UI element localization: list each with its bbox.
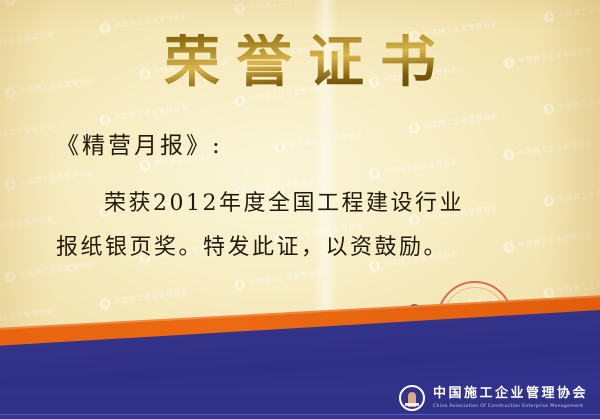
footer-hairline: [0, 414, 600, 415]
association-badge-icon: [543, 102, 555, 114]
association-badge-icon: [233, 94, 245, 106]
association-name-block: 中国施工企业管理协会 China Association Of Construc…: [433, 386, 588, 410]
watermark-row: 中国施工企业管理协会中国施工企业管理协会中国施工企业管理协会中国施工企业管理协会…: [0, 0, 600, 28]
association-badge-icon: [233, 2, 245, 14]
association-name-cn: 中国施工企业管理协会: [433, 386, 588, 402]
watermark-label: 中国施工企业管理协会: [0, 122, 54, 142]
watermark-label: 中国施工企业管理协会: [558, 184, 600, 204]
watermark-item: 中国施工企业管理协会: [0, 119, 55, 147]
watermark-label: 中国施工企业管理协会: [558, 0, 600, 20]
watermark-item: 中国施工企业管理协会: [0, 211, 55, 239]
watermark-label: 中国施工企业管理协会: [19, 0, 95, 4]
watermark-label: 中国施工企业管理协会: [248, 0, 324, 12]
association-badge-icon: [233, 278, 245, 290]
association-badge-icon: [543, 10, 555, 22]
watermark-item: 中国施工企业管理协会: [98, 100, 189, 128]
watermark-item: 中国施工企业管理协会: [233, 0, 324, 17]
association-badge-icon: [99, 21, 111, 33]
watermark-item: 中国施工企业管理协会: [542, 89, 600, 117]
association-badge-icon: [4, 0, 16, 7]
award-text-line-2: 报纸银页奖。特发此证，以资鼓励。: [56, 226, 558, 270]
watermark-item: 中国施工企业管理协会: [98, 284, 189, 312]
watermark-label: 中国施工企业管理协会: [114, 287, 190, 307]
award-text-line-1: 荣获2012年度全国工程建设行业: [56, 182, 558, 226]
watermark-label: 中国施工企业管理协会: [558, 276, 600, 296]
association-badge-icon: [99, 297, 111, 309]
watermark-label: 中国施工企业管理协会: [0, 214, 54, 234]
recipient-line: 《精营月报》:: [56, 126, 558, 160]
watermark-label: 中国施工企业管理协会: [114, 11, 190, 31]
watermark-label: 中国施工企业管理协会: [114, 103, 190, 123]
association-name-en: China Association Of Construction Enterp…: [433, 404, 588, 410]
watermark-item: 中国施工企业管理协会: [4, 0, 95, 9]
association-badge-icon: [99, 113, 111, 125]
watermark-label: 中国施工企业管理协会: [558, 92, 600, 112]
association-badge-icon: [4, 270, 16, 282]
watermark-label: 中国施工企业管理协会: [0, 306, 54, 326]
certificate-document: 中国施工企业管理协会中国施工企业管理协会中国施工企业管理协会中国施工企业管理协会…: [0, 0, 600, 419]
certificate-title: 荣誉证书: [0, 34, 600, 90]
association-arch-logo-icon: [399, 385, 425, 411]
certificate-body: 《精营月报》: 荣获2012年度全国工程建设行业 报纸银页奖。特发此证，以资鼓励…: [56, 126, 558, 270]
association-footer-logo: 中国施工企业管理协会 China Association Of Construc…: [399, 385, 588, 411]
watermark-label: 中国施工企业管理协会: [248, 268, 324, 288]
association-badge-icon: [4, 178, 16, 190]
watermark-item: 中国施工企业管理协会: [542, 0, 600, 25]
